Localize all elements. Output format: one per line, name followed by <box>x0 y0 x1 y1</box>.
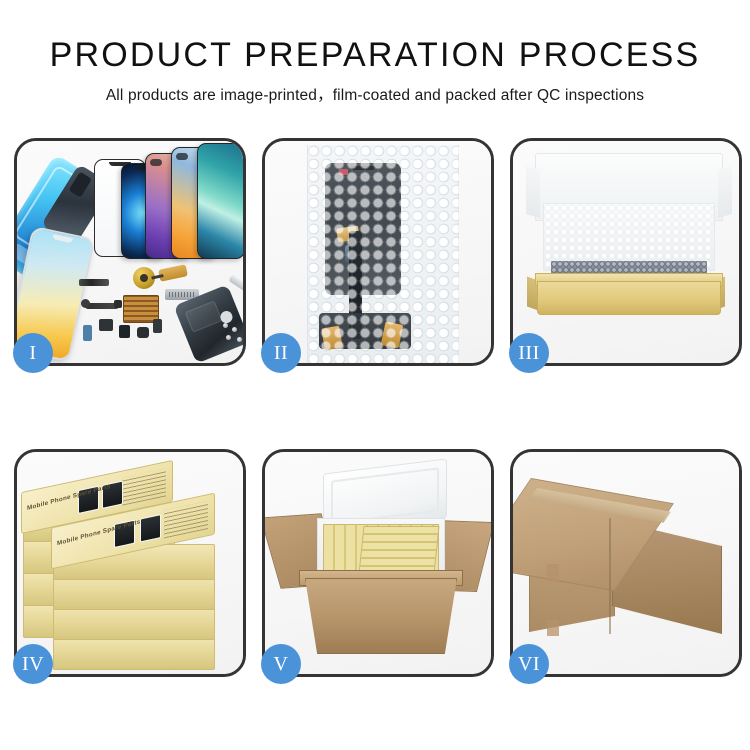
earpiece-bar-part <box>79 279 109 286</box>
page-title: PRODUCT PREPARATION PROCESS <box>0 36 750 74</box>
step-3-image <box>513 141 739 363</box>
phone-teal-wallpaper <box>197 143 243 259</box>
page-header: PRODUCT PREPARATION PROCESS All products… <box>0 0 750 105</box>
step-6-image <box>513 452 739 674</box>
box-spec-lines <box>164 501 208 538</box>
step-5-image <box>265 452 491 674</box>
step-2-image <box>265 141 491 363</box>
process-step-2[interactable]: II <box>262 138 494 366</box>
process-step-3[interactable]: III <box>510 138 742 366</box>
spare-parts-cluster <box>75 263 243 363</box>
process-step-grid: I II III <box>14 138 742 677</box>
step-6-badge: VI <box>509 644 549 684</box>
camera-module-icon <box>176 153 188 160</box>
inner-boxes-yellow-stack <box>358 526 439 574</box>
process-step-1[interactable]: I <box>14 138 246 366</box>
screws-group <box>223 323 243 345</box>
box-spec-lines <box>122 468 166 505</box>
step-4-badge: IV <box>13 644 53 684</box>
box-artwork-phone-2 <box>140 514 161 542</box>
step-1-image <box>17 141 243 363</box>
step-5-badge: V <box>261 644 301 684</box>
connector-left-gold <box>321 326 343 351</box>
small-component-3 <box>137 327 149 338</box>
step-3-badge: III <box>509 333 549 373</box>
step-2-badge: II <box>261 333 301 373</box>
step-1-badge: I <box>13 333 53 373</box>
carton-tape-tab-upper <box>547 564 559 582</box>
step-4-image: Mobile Phone Spare Parts Mobile Phone Sp… <box>17 452 243 674</box>
box-front-yellow <box>537 281 721 315</box>
carton-front <box>305 578 457 654</box>
box-stack: Mobile Phone Spare Parts Mobile Phone Sp… <box>17 452 243 674</box>
small-component-2 <box>119 325 130 338</box>
process-step-5[interactable]: V <box>262 449 494 677</box>
process-step-6[interactable]: VI <box>510 449 742 677</box>
small-component-1 <box>99 319 113 331</box>
page-subtitle: All products are image-printed，film-coat… <box>0 83 750 105</box>
small-component-4 <box>153 319 162 333</box>
antenna-cable-part <box>85 303 119 309</box>
carton-front-edge <box>609 518 611 634</box>
process-step-4[interactable]: Mobile Phone Spare Parts Mobile Phone Sp… <box>14 449 246 677</box>
carton-tape-tab-lower <box>547 620 559 636</box>
qc-sticker-red <box>339 169 348 175</box>
camera-module-icon <box>150 159 162 166</box>
flex-cable-gold <box>158 264 188 282</box>
sim-tray-part <box>83 325 92 341</box>
